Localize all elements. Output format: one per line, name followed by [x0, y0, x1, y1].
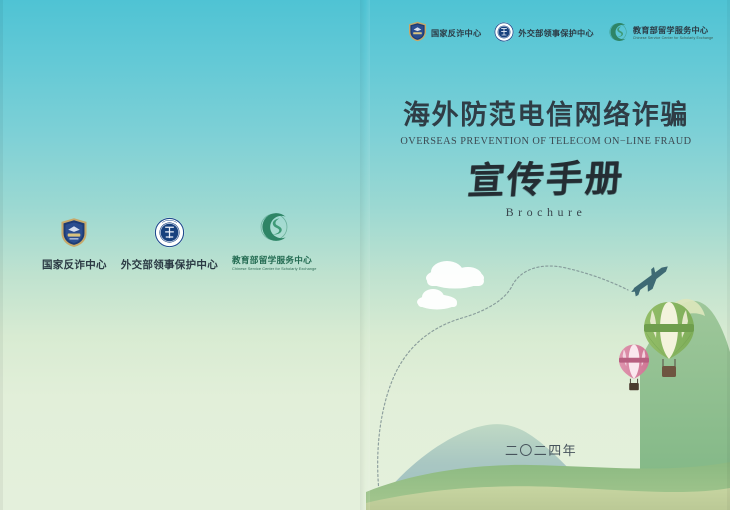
org-logo-label: 外交部领事保护中心 — [518, 30, 594, 39]
credit-label-en: Chinese Service Center for Scholarly Exc… — [232, 267, 316, 271]
brush-title-en: Brochure — [396, 205, 696, 220]
credit-label: 教育部留学服务中心 Chinese Service Center for Sch… — [232, 256, 316, 271]
page-title: 海外防范电信网络诈骗 — [396, 100, 696, 131]
credit-label: 外交部领事保护中心 — [121, 260, 218, 272]
org-logo-national-anti-fraud-center: 国家反诈中心 — [408, 21, 481, 47]
hill-back-green — [640, 299, 730, 510]
hill-mid-blue — [372, 424, 628, 510]
org-logo-label: 教育部留学服务中心 Chinese Service Center for Sch… — [633, 27, 713, 40]
cloud-large — [426, 261, 484, 289]
circular-emblem-icon — [154, 217, 185, 253]
hill-front-green — [366, 462, 730, 510]
circular-emblem-icon — [494, 22, 514, 47]
cover-fold-line — [360, 0, 370, 510]
credits-logo-row: 国家反诈中心 外交部领事保护中心 — [42, 210, 332, 271]
shield-badge-icon — [60, 217, 88, 253]
credit-label: 国家反诈中心 — [42, 260, 107, 272]
org-logo-label: 国家反诈中心 — [431, 30, 481, 39]
cover-left-edge — [0, 0, 3, 510]
org-logo-label-en: Chinese Service Center for Scholarly Exc… — [633, 37, 713, 41]
dashed-flight-path — [378, 266, 628, 508]
publication-year: 二〇二四年 — [505, 440, 577, 459]
credit-national-anti-fraud-center: 国家反诈中心 — [42, 217, 107, 272]
brochure-cover: 国家反诈中心 外交部领事保护中心 — [0, 0, 730, 510]
brush-title: 宣传手册 — [466, 159, 625, 199]
org-logo-consular-protection-center: 外交部领事保护中心 — [494, 22, 594, 47]
headline-block: 海外防范电信网络诈骗 OVERSEAS PREVENTION OF TELECO… — [396, 100, 696, 220]
hot-air-balloon-pink — [619, 345, 649, 391]
cs-monogram-icon — [607, 21, 629, 48]
airplane-icon — [626, 261, 674, 299]
brush-title-wrap: 宣传手册 — [396, 161, 696, 198]
cloud-small — [417, 289, 457, 310]
hot-air-balloon-green — [644, 302, 694, 377]
shield-badge-icon — [408, 21, 427, 47]
cs-monogram-icon — [257, 210, 291, 249]
hill-foreground-khaki — [366, 486, 730, 510]
org-logo-cscse: 教育部留学服务中心 Chinese Service Center for Sch… — [607, 21, 713, 48]
organization-logo-bar: 国家反诈中心 外交部领事保护中心 — [408, 20, 700, 48]
page-title-en: OVERSEAS PREVENTION OF TELECOM ON−LINE F… — [396, 136, 696, 147]
credit-consular-protection-center: 外交部领事保护中心 — [121, 217, 218, 272]
credit-cscse: 教育部留学服务中心 Chinese Service Center for Sch… — [232, 210, 316, 271]
